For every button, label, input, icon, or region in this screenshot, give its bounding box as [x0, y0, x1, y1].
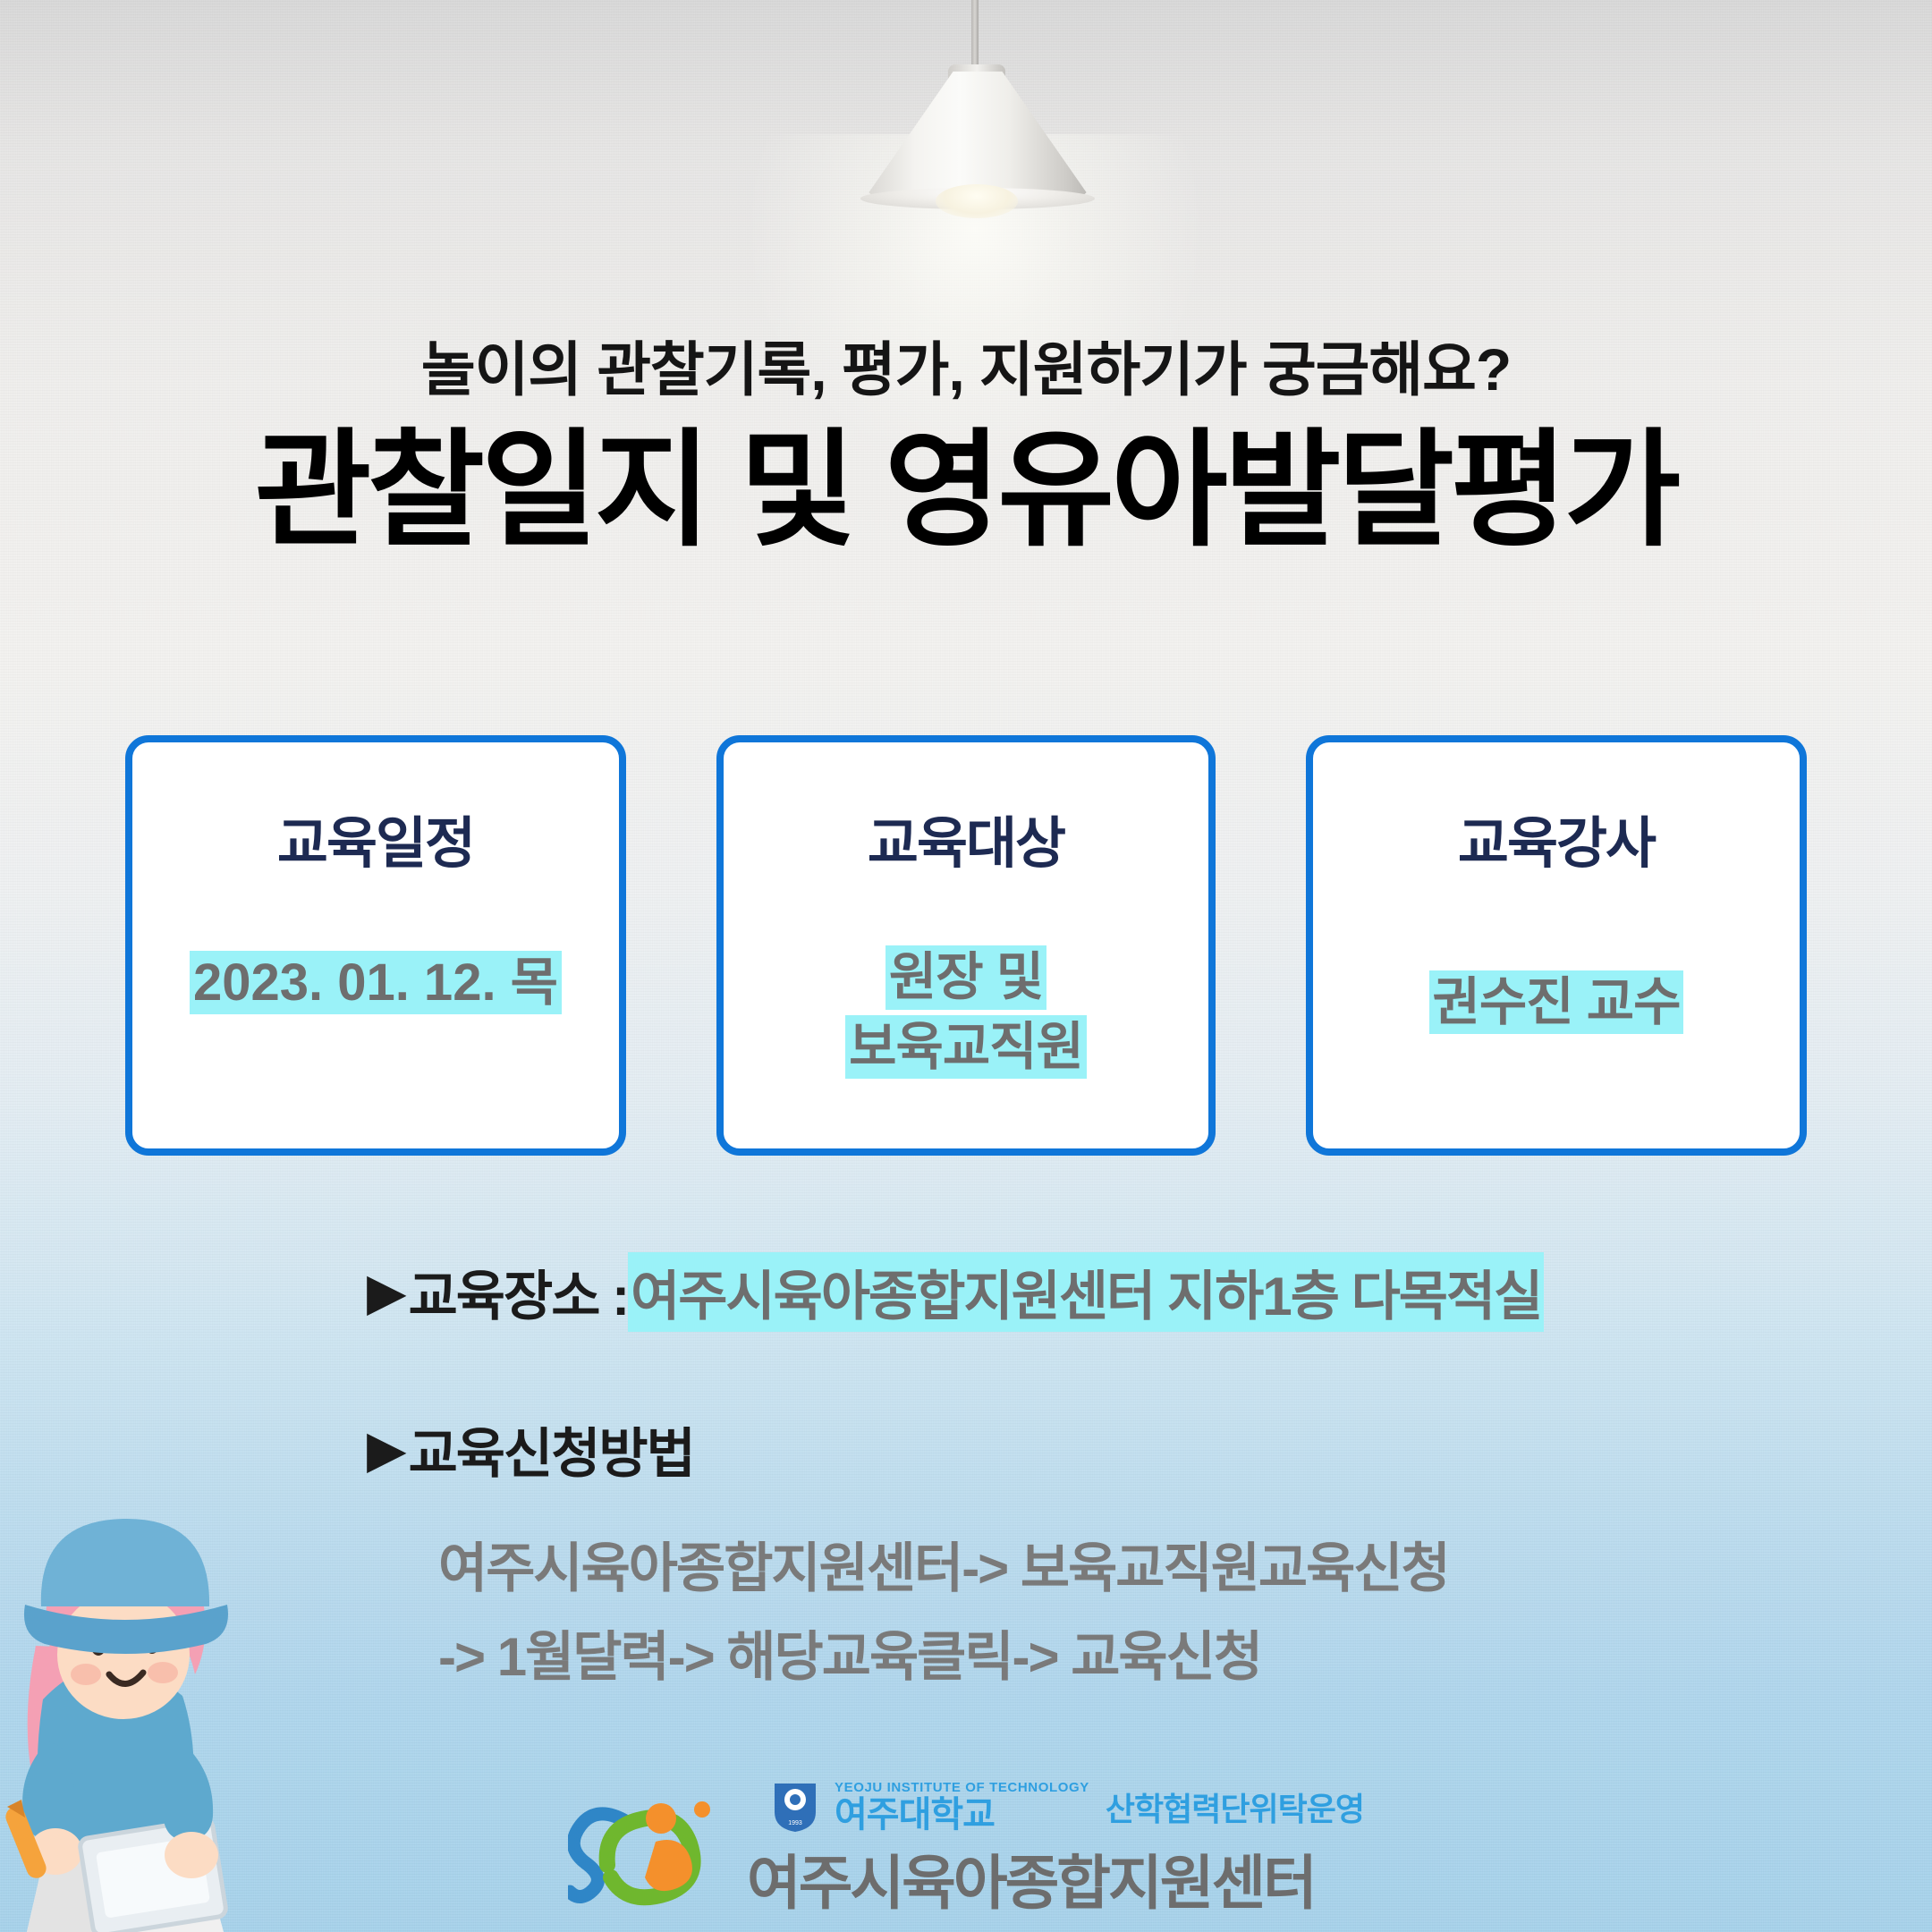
schedule-value: 2023. 01. 12. 목	[190, 951, 562, 1014]
university-name-block: YEOJU INSTITUTE OF TECHNOLOGY 여주대학교	[835, 1781, 1089, 1833]
university-name-korean: 여주대학교	[835, 1797, 1089, 1833]
audience-value-line1: 원장 및	[885, 945, 1046, 1009]
info-box-header: 교육강사	[1458, 798, 1655, 878]
university-year: 1993	[788, 1820, 802, 1826]
method-step-2: -> 1월달력-> 해당교육클릭-> 교육신청	[438, 1613, 1932, 1701]
method-label: 교육신청방법	[409, 1411, 694, 1488]
detail-row-place: ▶ 교육장소 : 여주시육아종합지원센터 지하1층 다목적실	[0, 1252, 1932, 1332]
pendant-lamp	[0, 0, 1932, 295]
lamp-bulb	[936, 184, 1018, 218]
partnership-label: 산학협력단위탁운영	[1106, 1784, 1364, 1834]
info-box-body: 원장 및 보육교직원	[724, 945, 1208, 1079]
audience-value-line2: 보육교직원	[845, 1015, 1087, 1079]
footer-inner: 1993 YEOJU INSTITUTE OF TECHNOLOGY 여주대학교…	[568, 1780, 1364, 1921]
university-row: 1993 YEOJU INSTITUTE OF TECHNOLOGY 여주대학교…	[747, 1780, 1364, 1834]
place-label: 교육장소 :	[409, 1253, 628, 1331]
place-value: 여주시육아종합지원센터 지하1층 다목적실	[628, 1252, 1544, 1332]
center-name: 여주시육아종합지원센터	[747, 1835, 1364, 1921]
sc-swirl-logo-icon	[568, 1792, 727, 1910]
info-box-header: 교육대상	[868, 798, 1064, 878]
info-box-header: 교육일정	[277, 798, 474, 878]
info-box-body: 2023. 01. 12. 목	[132, 951, 619, 1014]
method-step-1: 여주시육아종합지원센터-> 보육교직원교육신청	[438, 1524, 1932, 1613]
poster-subtitle: 놀이의 관찰기록, 평가, 지원하기가 궁금해요?	[0, 322, 1932, 408]
footer-logos: 1993 YEOJU INSTITUTE OF TECHNOLOGY 여주대학교…	[0, 1780, 1932, 1921]
instructor-value: 권수진 교수	[1429, 970, 1684, 1034]
info-box-instructor: 교육강사 권수진 교수	[1306, 735, 1807, 1156]
university-shield-icon: 1993	[772, 1780, 818, 1834]
footer-text-block: 1993 YEOJU INSTITUTE OF TECHNOLOGY 여주대학교…	[747, 1780, 1364, 1921]
info-box-body: 권수진 교수	[1313, 970, 1800, 1034]
info-box-audience: 교육대상 원장 및 보육교직원	[716, 735, 1216, 1156]
lamp-shade	[866, 72, 1089, 197]
lamp-cord	[971, 0, 979, 73]
info-box-group: 교육일정 2023. 01. 12. 목 교육대상 원장 및 보육교직원 교육강…	[125, 735, 1807, 1156]
info-box-schedule: 교육일정 2023. 01. 12. 목	[125, 735, 626, 1156]
triangle-bullet-icon: ▶	[367, 1267, 407, 1318]
university-name-english: YEOJU INSTITUTE OF TECHNOLOGY	[835, 1781, 1089, 1794]
poster-main-title: 관찰일지 및 영유아발달평가	[0, 413, 1932, 568]
